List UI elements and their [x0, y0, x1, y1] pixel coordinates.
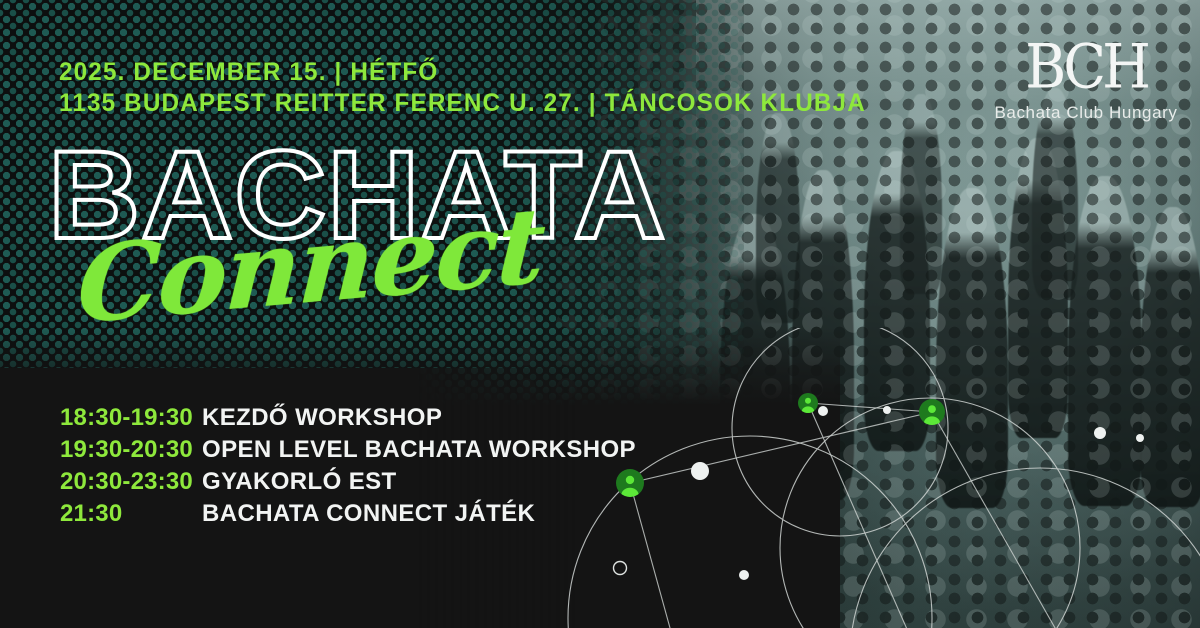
network-dot-filled [1094, 427, 1106, 439]
schedule-time: 21:30 [60, 500, 202, 528]
network-dot-filled [818, 406, 828, 416]
schedule-description: GYAKORLÓ EST [202, 468, 397, 496]
network-dot-filled [883, 406, 891, 414]
network-ring [732, 328, 948, 536]
schedule-row: 18:30-19:30KEZDŐ WORKSHOP [60, 404, 636, 436]
network-avatar-node [798, 393, 818, 417]
event-poster: 2025. DECEMBER 15. | HÉTFŐ 1135 BUDAPEST… [0, 0, 1200, 628]
schedule-row: 20:30-23:30GYAKORLÓ EST [60, 468, 636, 500]
schedule-description: OPEN LEVEL BACHATA WORKSHOP [202, 436, 636, 464]
network-link [932, 412, 1128, 628]
network-avatar-node [919, 399, 945, 430]
event-meta: 2025. DECEMBER 15. | HÉTFŐ 1135 BUDAPEST… [59, 57, 891, 119]
event-date: 2025. DECEMBER 15. | HÉTFŐ [59, 57, 866, 88]
schedule-row: 19:30-20:30OPEN LEVEL BACHATA WORKSHOP [60, 436, 636, 468]
schedule-time: 19:30-20:30 [60, 436, 202, 464]
schedule-list: 18:30-19:30KEZDŐ WORKSHOP19:30-20:30OPEN… [60, 404, 636, 532]
network-dot-filled [691, 462, 709, 480]
schedule-time: 20:30-23:30 [60, 468, 202, 496]
network-link [630, 483, 747, 628]
connection-network-graphic [540, 328, 1200, 628]
logo-monogram: BCH [986, 38, 1186, 98]
brand-logo: BCH Bachata Club Hungary [986, 38, 1186, 122]
network-link [808, 403, 1008, 628]
event-venue: 1135 BUDAPEST REITTER FERENC U. 27. | TÁ… [59, 88, 866, 119]
schedule-description: KEZDŐ WORKSHOP [202, 404, 442, 432]
network-link [630, 412, 932, 483]
schedule-description: BACHATA CONNECT JÁTÉK [202, 500, 535, 528]
network-dot-filled [739, 570, 749, 580]
schedule-time: 18:30-19:30 [60, 404, 202, 432]
logo-subtitle: Bachata Club Hungary [986, 103, 1186, 122]
poster-title-group: BACHATA Connect [48, 138, 654, 253]
network-dot-filled [1136, 434, 1144, 442]
network-dot-hollow [614, 562, 627, 575]
network-ring [850, 468, 1200, 628]
schedule-row: 21:30BACHATA CONNECT JÁTÉK [60, 500, 636, 532]
